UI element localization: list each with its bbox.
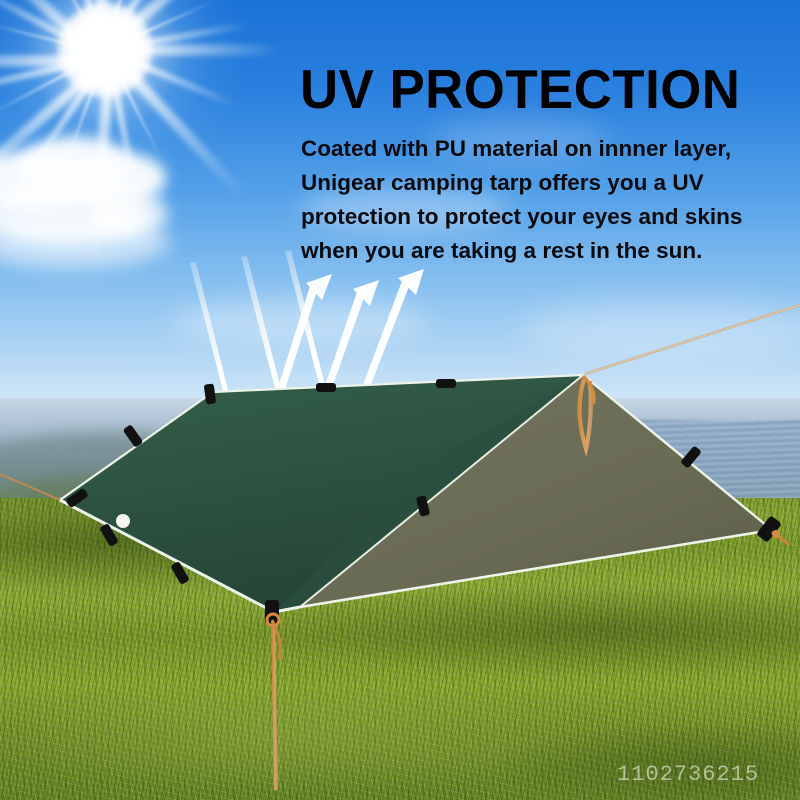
description-text: Coated with PU material on innner layer,… — [301, 132, 771, 268]
page-title: UV PROTECTION — [300, 62, 740, 117]
description-line: when you are taking a rest in the sun. — [301, 234, 771, 268]
tarp-grommet — [116, 514, 130, 528]
description-line: Unigear camping tarp offers you a UV — [301, 166, 771, 200]
guyline-left — [0, 474, 60, 500]
description-line: Coated with PU material on innner layer, — [301, 132, 771, 166]
tarp-illustration — [0, 0, 800, 800]
product-infographic: UV PROTECTION Coated with PU material on… — [0, 0, 800, 800]
guyline-bottom-stake — [267, 614, 280, 790]
tarp-tab — [123, 424, 144, 448]
tarp-tab — [316, 383, 336, 392]
description-line: protection to protect your eyes and skin… — [301, 200, 771, 234]
tarp-tab — [436, 379, 456, 388]
watermark-id: 1102736215 — [617, 762, 759, 787]
